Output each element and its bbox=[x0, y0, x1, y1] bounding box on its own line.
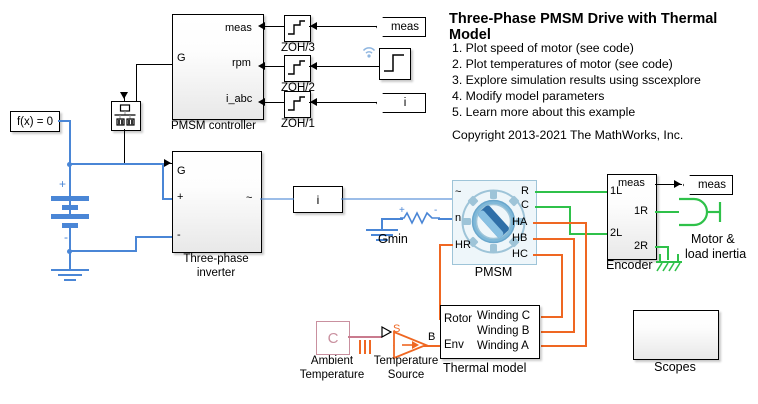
pmsm-port-hb: HB bbox=[512, 232, 527, 244]
zoh-icon bbox=[285, 16, 308, 39]
wire-i-to-pmsm-ac bbox=[341, 198, 452, 200]
arrow-zoh2-in bbox=[310, 62, 317, 70]
inverter-label-line2: inverter bbox=[172, 267, 260, 280]
pwm-generator-icon bbox=[112, 102, 138, 128]
gmin-label: Gmin bbox=[378, 232, 408, 246]
ground-bar-3 bbox=[64, 279, 76, 281]
pmsm-controller-port-g: G bbox=[177, 52, 186, 64]
gmin-ground-bar-1 bbox=[366, 229, 398, 231]
doc-step-3[interactable]: 3. Explore simulation results using ssce… bbox=[452, 73, 701, 87]
wire-hc-to-winding-c bbox=[541, 316, 563, 318]
tag-meas-input[interactable]: meas bbox=[376, 17, 426, 37]
battery-plus-label: + bbox=[59, 178, 66, 192]
simulink-model-canvas: Three-Phase PMSM Drive with Thermal Mode… bbox=[0, 0, 758, 404]
inertia-label-line2: load inertia bbox=[685, 247, 746, 261]
wire-pmsm-c-v bbox=[569, 206, 571, 235]
gmin-port-plus: + bbox=[399, 205, 405, 216]
wire-ha-v bbox=[585, 222, 587, 346]
wire-zoh3-to-controller bbox=[262, 26, 285, 27]
wire-hb-h bbox=[533, 238, 575, 240]
inverter-port-g: G bbox=[177, 165, 186, 177]
pmsm-port-n: n bbox=[455, 212, 461, 224]
wire-hb-v bbox=[573, 238, 575, 332]
inverter-port-ac: ~ bbox=[246, 192, 252, 204]
ambient-temperature-label-line2: Temperature bbox=[288, 369, 376, 382]
current-sensor-block[interactable]: i bbox=[293, 186, 343, 213]
temperature-source-label-line1: Temperature bbox=[368, 355, 444, 368]
arrow-controller-meas bbox=[258, 22, 265, 30]
thermal-model-label: Thermal model bbox=[443, 361, 526, 375]
thermal-port-rotor: Rotor bbox=[444, 313, 472, 325]
wire-hr-h1 bbox=[439, 244, 453, 246]
arrow-zoh3-in bbox=[310, 22, 317, 30]
inertia-label-line1: Motor & bbox=[691, 232, 735, 246]
thermal-port-winding-b: Winding B bbox=[477, 325, 529, 337]
pmsm-controller-label: PMSM controller bbox=[171, 120, 256, 133]
ground-lead bbox=[69, 252, 71, 270]
tag-meas-output[interactable]: meas bbox=[683, 175, 733, 195]
battery-minus-label: - bbox=[64, 231, 68, 245]
wire-batt-minus-h2 bbox=[135, 236, 174, 238]
wire-batt-minus-v bbox=[135, 236, 137, 252]
wire-inverter-to-i bbox=[260, 198, 294, 200]
wire-ha-h bbox=[533, 222, 587, 224]
arrow-controller-rpm bbox=[258, 62, 265, 70]
ambient-temperature-label-line1: Ambient bbox=[296, 355, 368, 368]
ps-hash-3 bbox=[369, 340, 371, 354]
zoh-icon bbox=[285, 56, 308, 79]
scopes-block[interactable] bbox=[633, 310, 719, 360]
wireless-broadcast-icon bbox=[361, 44, 377, 60]
wire-pwm-out-down bbox=[124, 129, 125, 164]
thermal-port-env: Env bbox=[444, 339, 464, 351]
wire-pmsm-c-to-encoder-2l bbox=[569, 233, 607, 235]
encoder-port-2l: 2L bbox=[610, 227, 622, 239]
pmsm-port-r: R bbox=[521, 185, 529, 197]
step-source-block[interactable] bbox=[379, 48, 411, 80]
wire-i-to-zoh1 bbox=[309, 102, 377, 103]
wire-hb-to-winding-b bbox=[541, 331, 575, 333]
arrow-controller-iabc bbox=[258, 98, 265, 106]
inverter-port-plus: + bbox=[177, 191, 183, 203]
pmsm-controller-port-iabc: i_abc bbox=[226, 93, 252, 105]
temperature-source-label-line2: Source bbox=[368, 369, 444, 382]
solver-configuration-block[interactable]: f(x) = 0 bbox=[10, 111, 60, 132]
thermal-port-winding-c: Winding C bbox=[477, 310, 530, 322]
pmsm-port-c: C bbox=[521, 199, 529, 211]
zoh1-label: ZOH/1 bbox=[281, 118, 315, 131]
arrow-inverter-g bbox=[164, 159, 171, 167]
zoh-icon bbox=[285, 92, 308, 115]
ground-bar-2 bbox=[58, 274, 82, 276]
zoh3-block[interactable] bbox=[284, 15, 311, 42]
pmsm-port-ha: HA bbox=[512, 216, 527, 228]
inverter-port-minus: - bbox=[177, 229, 181, 241]
wire-batt-plus-h1 bbox=[69, 163, 164, 165]
wire-pmsm-r-to-encoder-1l bbox=[535, 191, 607, 193]
pmsm-port-ac: ~ bbox=[455, 186, 461, 198]
wire-hc-h bbox=[533, 254, 563, 256]
ps-hash-1 bbox=[359, 340, 361, 354]
zoh2-block[interactable] bbox=[284, 55, 311, 82]
doc-step-4[interactable]: 4. Modify model parameters bbox=[452, 89, 604, 103]
ambient-temperature-block[interactable]: C bbox=[316, 321, 350, 355]
scopes-label: Scopes bbox=[633, 360, 717, 374]
zoh1-block[interactable] bbox=[284, 91, 311, 118]
wire-zoh2-to-controller bbox=[262, 66, 285, 67]
encoder-port-meas: meas bbox=[618, 177, 645, 189]
wire-pmsm-c-h1 bbox=[535, 206, 571, 208]
wire-ha-to-winding-a bbox=[541, 345, 587, 347]
wire-step-to-zoh2 bbox=[309, 66, 380, 67]
ground-bar-1 bbox=[51, 269, 89, 271]
doc-step-1[interactable]: 1. Plot speed of motor (see code) bbox=[452, 41, 634, 55]
pmsm-label: PMSM bbox=[452, 265, 535, 279]
encoder-port-2r: 2R bbox=[634, 240, 648, 252]
doc-step-5[interactable]: 5. Learn more about this example bbox=[452, 105, 635, 119]
pmsm-port-hr: HR bbox=[455, 239, 471, 251]
tag-i-input[interactable]: i bbox=[376, 93, 426, 113]
step-icon bbox=[380, 49, 408, 77]
arrow-meas-tag bbox=[674, 180, 681, 188]
mechanical-ground-icon bbox=[652, 252, 686, 274]
pmsm-port-hc: HC bbox=[512, 248, 528, 260]
model-title: Three-Phase PMSM Drive with Thermal Mode… bbox=[449, 11, 758, 43]
wire-gmin-to-pmsm-n bbox=[438, 218, 452, 220]
arrow-zoh1-in bbox=[310, 98, 317, 106]
temperature-source-port-b: B bbox=[428, 331, 435, 343]
thermal-port-winding-a: Winding A bbox=[477, 340, 529, 352]
doc-step-2[interactable]: 2. Plot temperatures of motor (see code) bbox=[452, 57, 673, 71]
wire-solver-down bbox=[69, 120, 71, 166]
wire-meas-to-zoh3 bbox=[309, 26, 377, 27]
wire-ambient-to-tempsource bbox=[348, 336, 382, 338]
pmsm-controller-port-meas: meas bbox=[225, 22, 252, 34]
gmin-port-minus: - bbox=[434, 205, 437, 216]
battery-plate-2-long bbox=[51, 214, 89, 219]
battery-lead-top bbox=[69, 164, 71, 198]
arrow-pwm-in bbox=[120, 92, 128, 99]
zoh3-label: ZOH/3 bbox=[281, 42, 315, 55]
pmsm-controller-port-rpm: rpm bbox=[232, 57, 251, 69]
encoder-port-1r: 1R bbox=[634, 205, 648, 217]
battery-inner-lead-1 bbox=[69, 200, 71, 206]
inertia-icon bbox=[676, 196, 724, 228]
wire-zoh1-to-controller bbox=[262, 102, 285, 103]
wire-batt-minus-h1 bbox=[69, 250, 137, 252]
encoder-label: Encoder bbox=[606, 258, 653, 272]
wire-hc-v bbox=[561, 254, 563, 317]
copyright-text: Copyright 2013-2021 The MathWorks, Inc. bbox=[452, 128, 683, 142]
ps-hash-2 bbox=[364, 340, 366, 354]
pwm-generator-block[interactable] bbox=[111, 101, 141, 131]
wire-batt-plus-v bbox=[162, 163, 164, 200]
inverter-label-line1: Three-phase bbox=[172, 253, 260, 266]
wire-controller-g-in bbox=[136, 64, 172, 65]
